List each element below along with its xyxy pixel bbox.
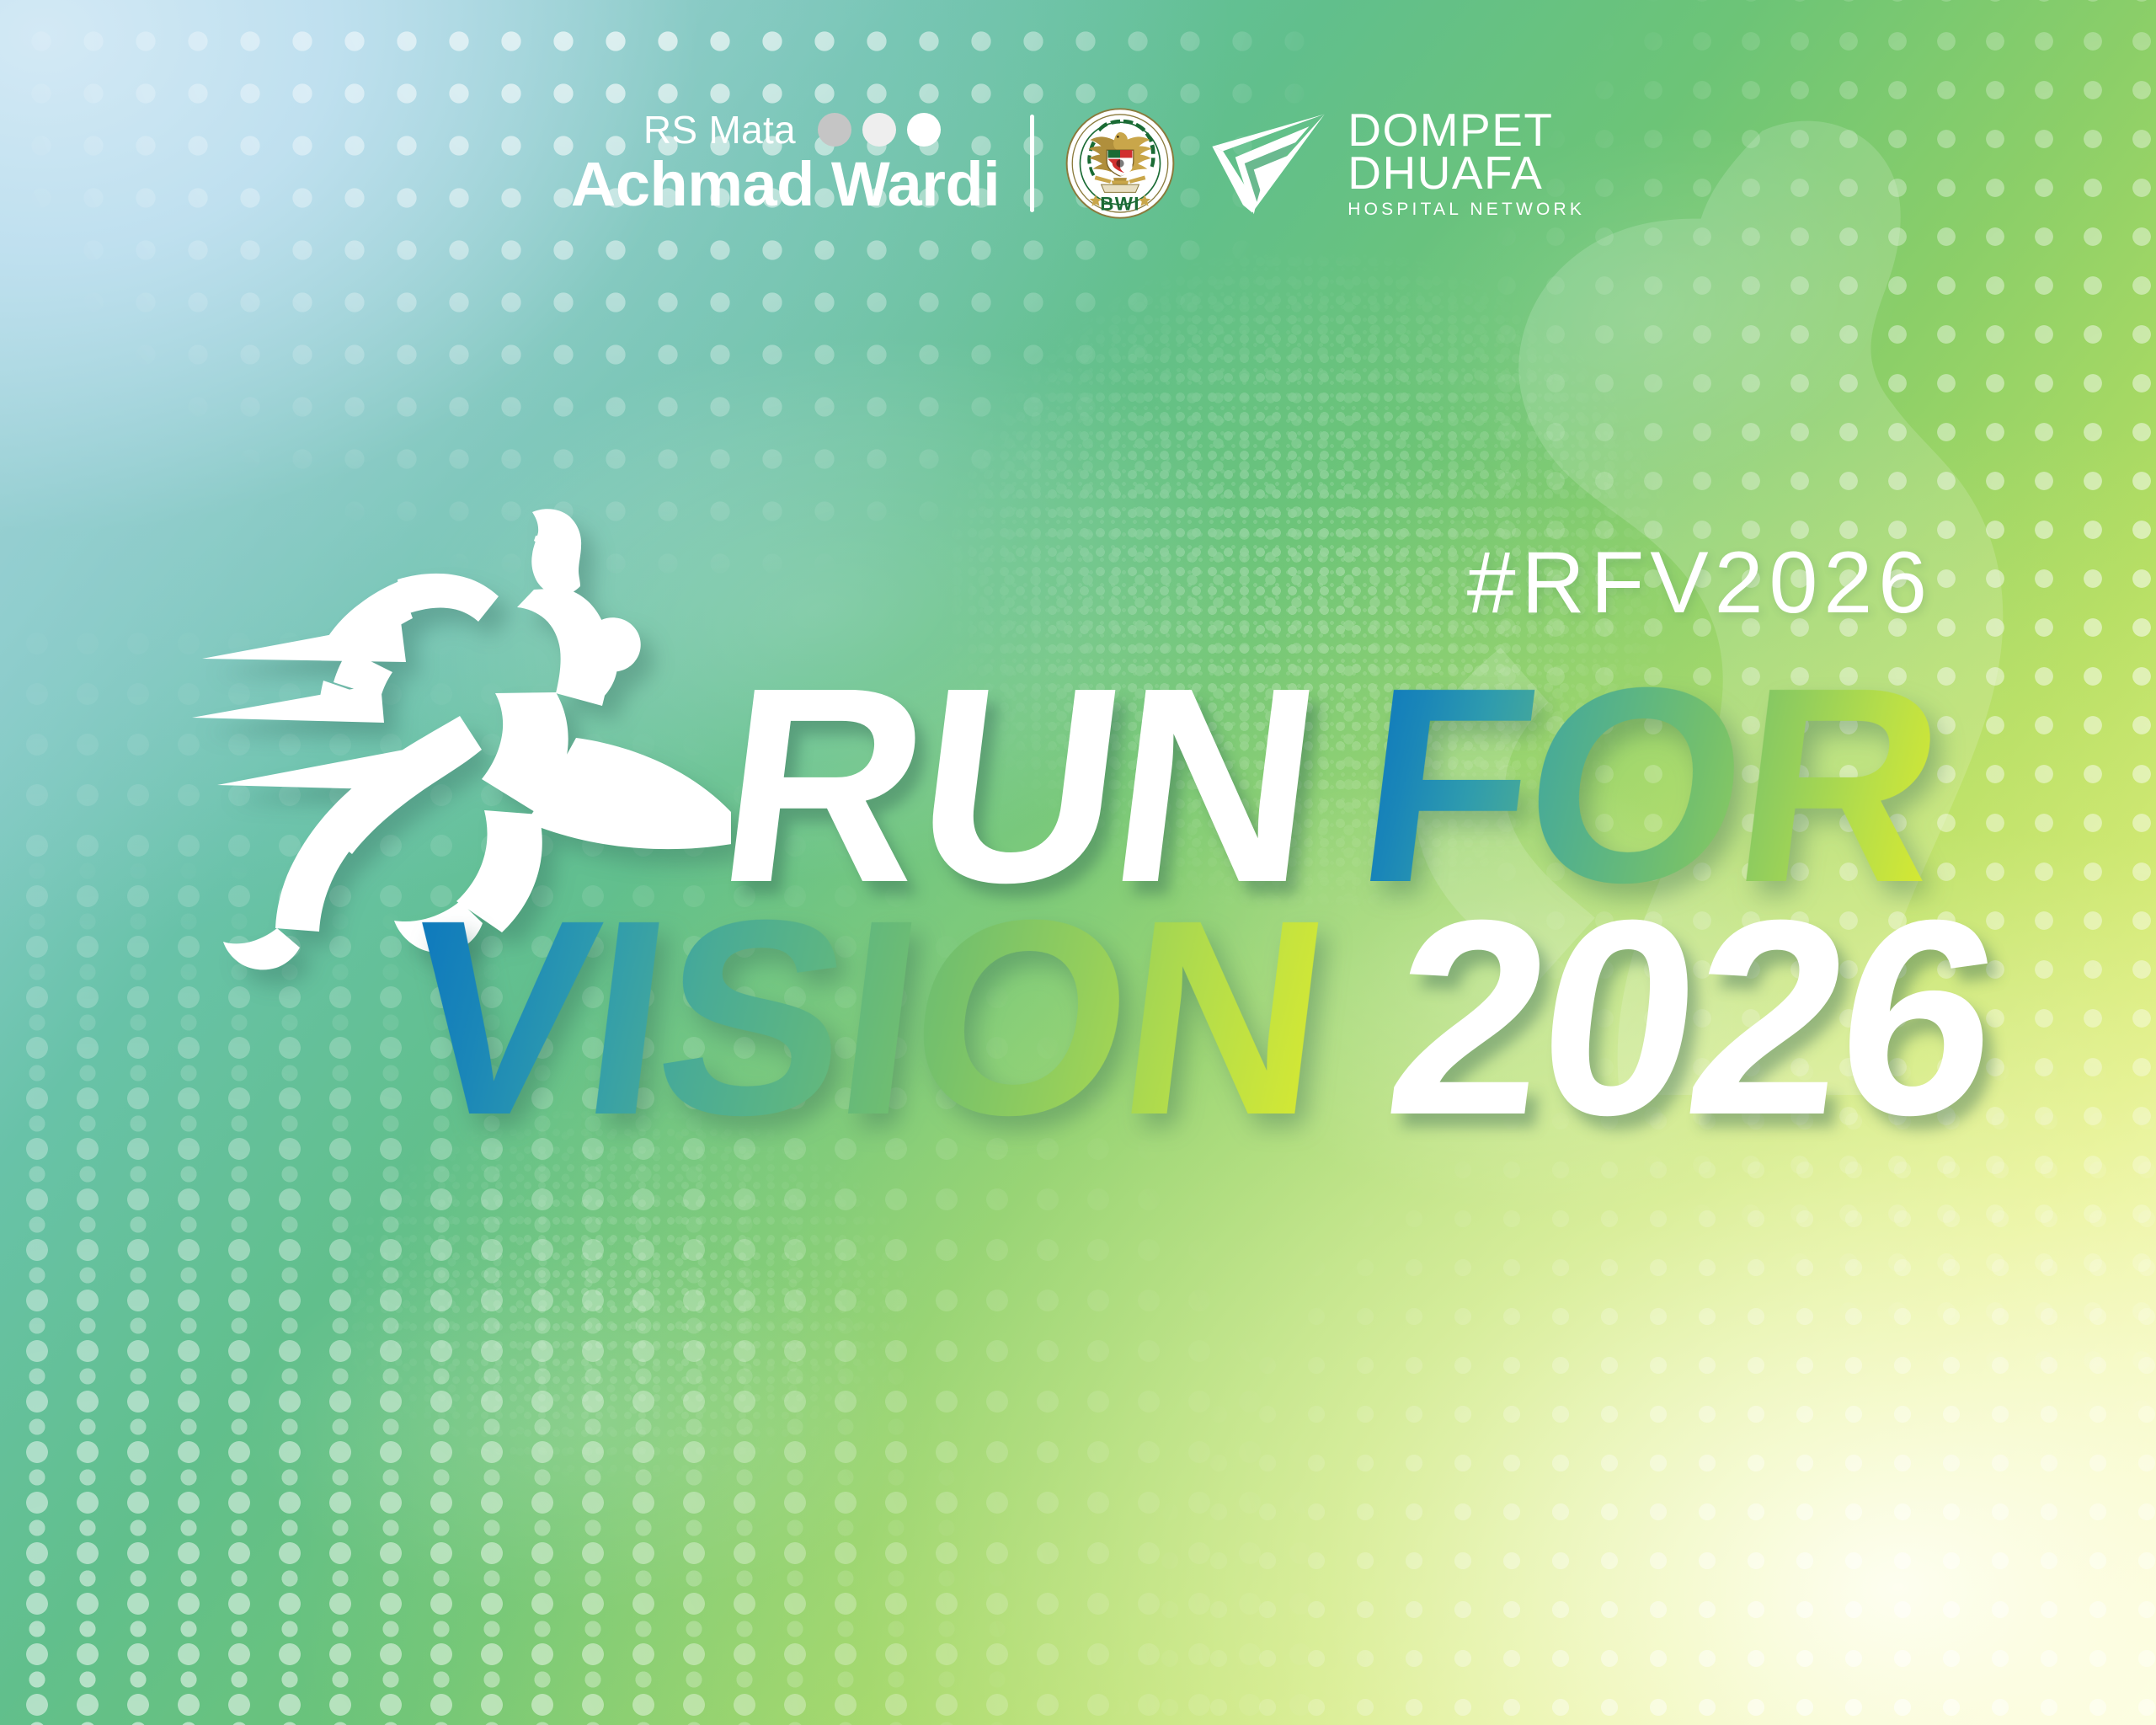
dot-light-icon: [862, 113, 896, 147]
logo-divider: [1030, 115, 1034, 212]
headline-block: RUN FOR VISION 2026: [0, 657, 2156, 1145]
rs-mata-label: RS Mata: [643, 110, 796, 149]
sponsor-logo-bar: RS Mata Achmad Wardi: [0, 108, 2156, 219]
dompet-dhuafa-mark-icon: [1206, 109, 1332, 217]
dompet-dhuafa-logo: DOMPET DHUAFA HOSPITAL NETWORK: [1206, 109, 1585, 218]
headline-word-vision: VISION: [392, 889, 1336, 1146]
headline-word-2026: 2026: [1377, 889, 2006, 1146]
achmad-wardi-label: Achmad Wardi: [571, 152, 1000, 216]
hospital-network-label: HOSPITAL NETWORK: [1347, 201, 1585, 218]
bwi-seal-logo: BWI: [1065, 108, 1176, 219]
headline-line-2: VISION 2026: [227, 889, 2156, 1146]
event-hashtag: #RFV2026: [1467, 539, 1933, 627]
rs-mata-dots-icon: [818, 113, 941, 147]
dompet-label: DOMPET: [1347, 109, 1585, 152]
dot-white-icon: [907, 113, 941, 147]
dhuafa-label: DHUAFA: [1347, 152, 1585, 195]
svg-text:BWI: BWI: [1100, 193, 1140, 214]
dompet-dhuafa-wordmark: DOMPET DHUAFA HOSPITAL NETWORK: [1347, 109, 1585, 218]
rs-mata-top-row: RS Mata: [571, 110, 941, 149]
dot-gray-icon: [818, 113, 851, 147]
rs-mata-achmad-wardi-logo: RS Mata Achmad Wardi: [571, 110, 1000, 216]
watercolor-wash-lower-left: [101, 1162, 1070, 1685]
poster-canvas: RS Mata Achmad Wardi: [0, 0, 2156, 1725]
